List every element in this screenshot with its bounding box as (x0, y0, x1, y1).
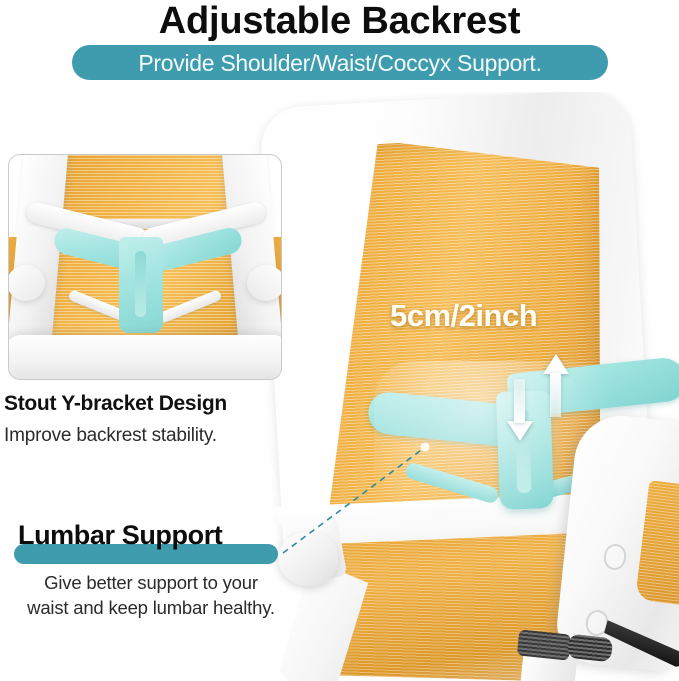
ybracket-detail-inset (8, 154, 282, 380)
lumbar-support-block: Lumbar Support Give better support to yo… (0, 520, 300, 630)
inset-knob-left (8, 265, 45, 301)
arrow-down-head (507, 421, 533, 441)
inset-bottom-rim (8, 335, 282, 380)
arrow-up-tail (550, 373, 561, 417)
lumbar-subtext: Give better support to your waist and ke… (0, 570, 302, 620)
lumbar-subtext-line1: Give better support to your (0, 570, 302, 595)
subtitle-text: Provide Shoulder/Waist/Coccyx Support. (138, 50, 541, 76)
ybracket-heading: Stout Y-bracket Design (4, 392, 294, 416)
inset-knob-right (247, 265, 282, 301)
arrow-up-icon (543, 354, 569, 418)
header: Adjustable Backrest Provide Shoulder/Wai… (0, 0, 679, 88)
arrow-up-head (543, 354, 569, 374)
chair-product-photo: 5cm/2inch (250, 92, 679, 681)
ybracket-subtext: Improve backrest stability. (4, 425, 304, 447)
lumbar-subtext-line2: waist and keep lumbar healthy. (0, 595, 302, 620)
gas-cylinder-collar-secondary (567, 634, 613, 662)
arrow-down-tail (514, 379, 525, 423)
bracket-arc-left (404, 461, 500, 504)
arrow-down-icon (507, 379, 533, 441)
page-title: Adjustable Backrest (0, 0, 679, 43)
measurement-label: 5cm/2inch (390, 298, 537, 334)
gas-cylinder-collar (517, 629, 571, 660)
subtitle-pill: Provide Shoulder/Waist/Coccyx Support. (72, 45, 608, 80)
inset-bracket-groove (135, 251, 146, 317)
lumbar-heading: Lumbar Support (18, 520, 298, 551)
